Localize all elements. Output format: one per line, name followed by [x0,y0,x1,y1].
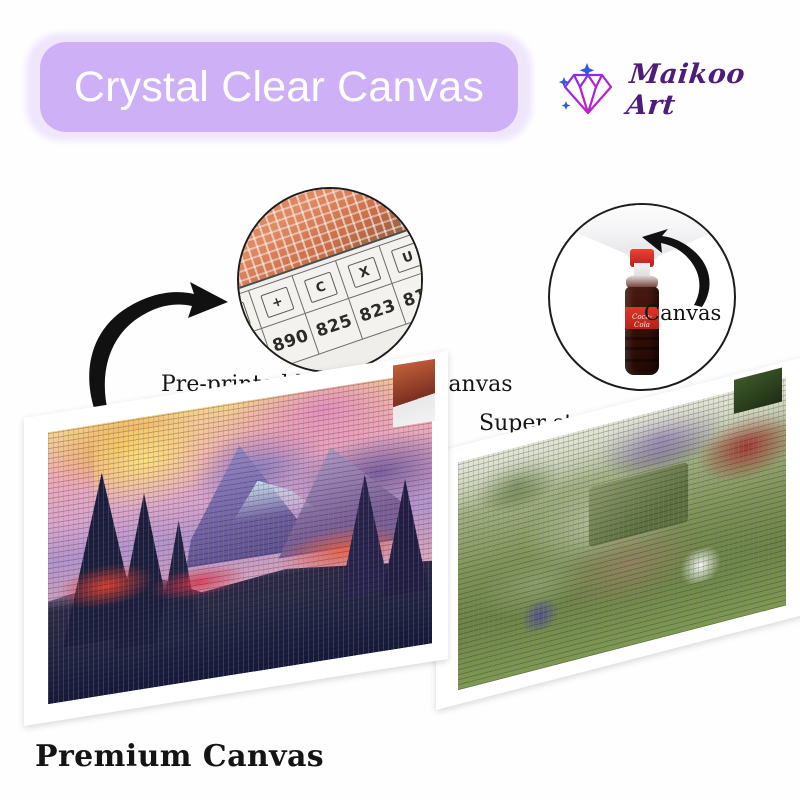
diamond-icon [556,61,618,119]
caption-premium-canvas: Premium Canvas [35,739,324,774]
page-title-pill: Crystal Clear Canvas [40,42,518,132]
magnified-canvas-circle: S + C X U 898 890 825 823 817 [237,187,423,373]
canvas-board-green-cottage [436,357,800,710]
canvas-board-sunset-mountain [24,351,448,726]
grid-symbol: + [260,286,294,318]
brand-logo: Maikoo Art [556,57,780,123]
canvas-corner-sticker [393,359,435,427]
grid-symbol: X [347,256,381,288]
canvas-pointer-label: Canvas [644,301,721,325]
page-title: Crystal Clear Canvas [74,63,484,112]
grid-symbol: C [304,271,338,303]
brand-name: Maikoo Art [625,59,784,121]
grid-symbol: U [391,242,423,274]
product-infographic: Crystal Clear Canvas [0,0,800,800]
adhesive-demo-circle: Coca-Cola Canvas [548,203,736,391]
